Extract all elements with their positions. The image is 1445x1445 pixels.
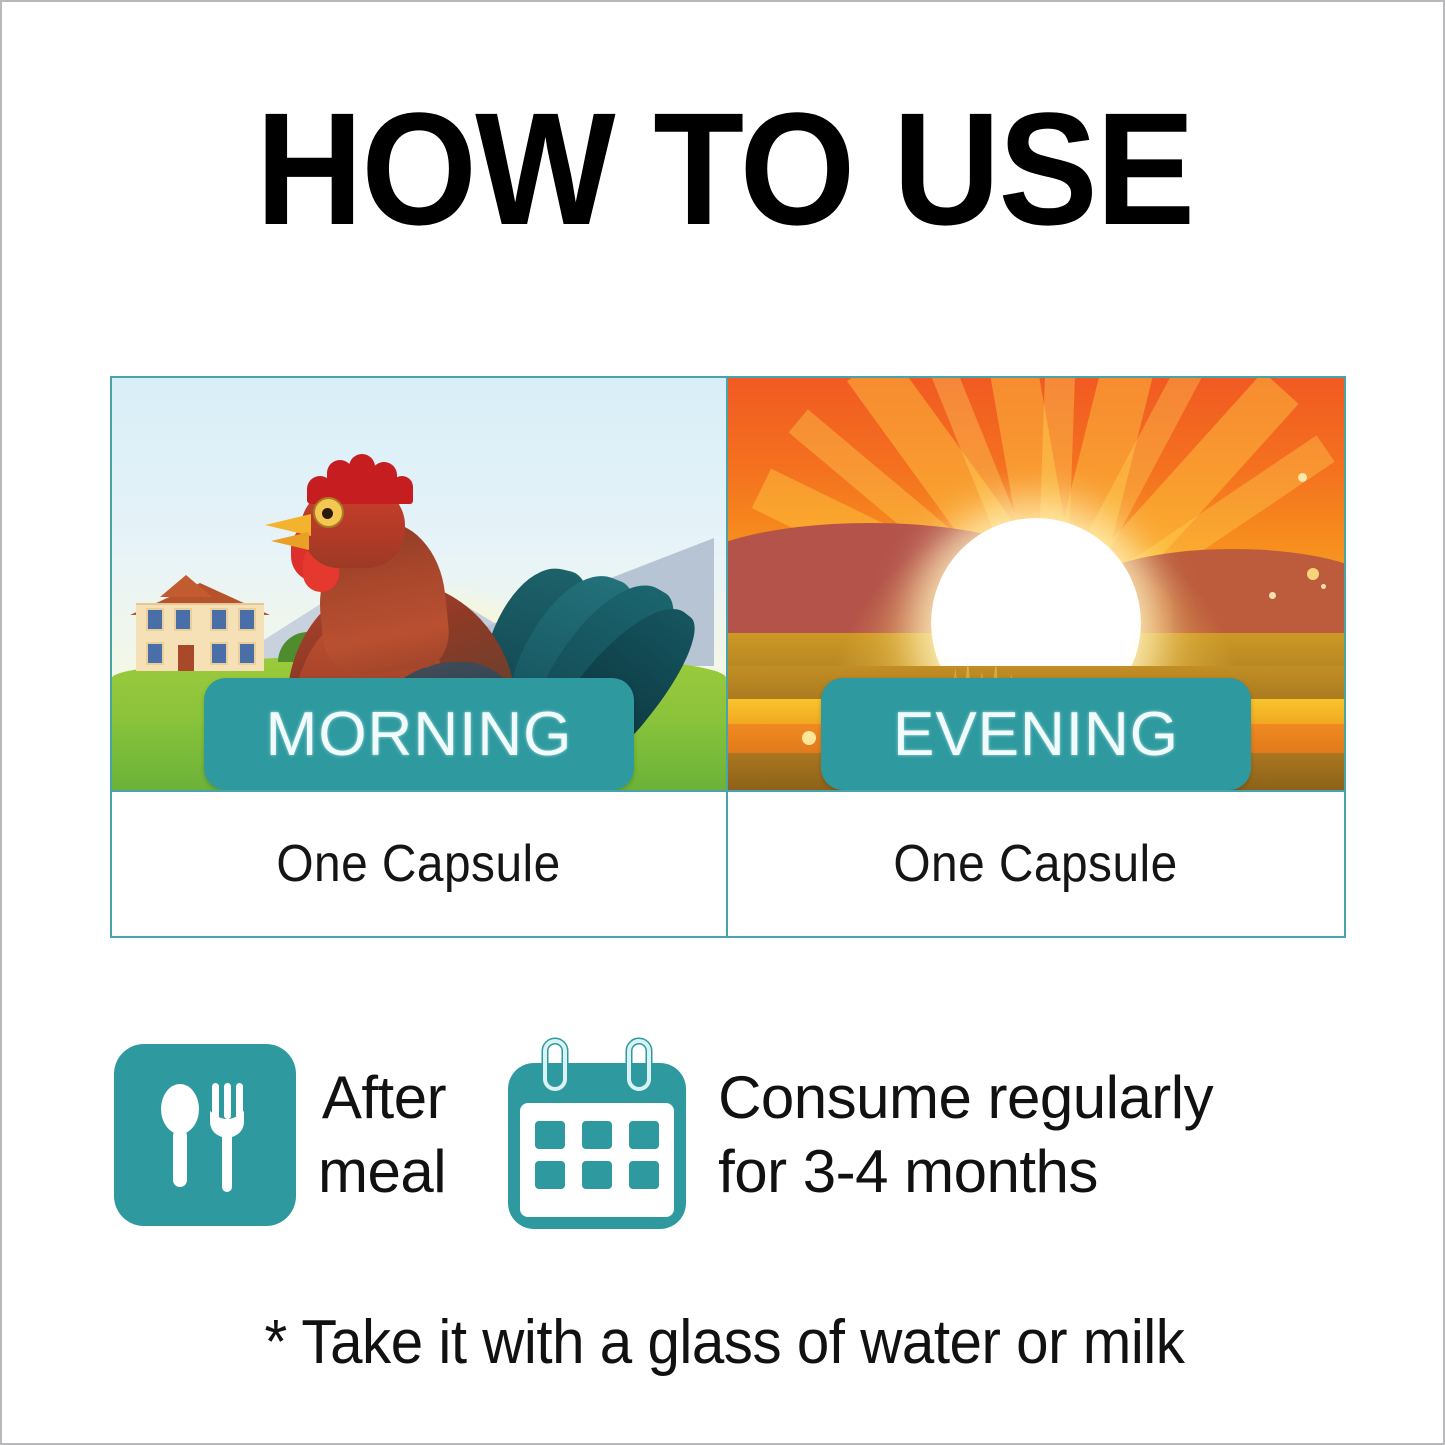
sparkle-dot	[1307, 568, 1319, 580]
roof-gable-shape	[160, 575, 212, 597]
feature-after-meal: After meal	[114, 1044, 446, 1226]
morning-badge: MORNING	[204, 678, 634, 790]
feature-after-meal-line2: meal	[318, 1135, 446, 1209]
window-shape	[146, 642, 164, 665]
rooster-beak-lower	[271, 532, 309, 550]
dosage-schedule-table: MORNING	[110, 376, 1346, 938]
feature-after-meal-text: After meal	[318, 1061, 446, 1209]
door-shape	[178, 645, 194, 671]
schedule-image-row: MORNING	[112, 378, 1344, 792]
morning-badge-label: MORNING	[266, 699, 573, 770]
sparkle-dot	[802, 731, 816, 745]
evening-image-cell: EVENING	[728, 378, 1344, 790]
window-shape	[210, 608, 228, 631]
evening-badge: EVENING	[821, 678, 1251, 790]
evening-badge-label: EVENING	[893, 699, 1179, 770]
morning-dose-cell: One Capsule	[112, 792, 728, 936]
morning-dose-label: One Capsule	[277, 834, 561, 894]
schedule-dose-row: One Capsule One Capsule	[112, 792, 1344, 936]
sparkle-dot	[1298, 473, 1307, 482]
evening-dose-cell: One Capsule	[728, 792, 1344, 936]
evening-dose-label: One Capsule	[894, 834, 1178, 894]
how-to-use-infographic: HOW TO USE	[0, 0, 1445, 1445]
footnote-text: * Take it with a glass of water or milk	[45, 1307, 1403, 1378]
spoon-fork-icon	[114, 1044, 296, 1226]
feature-duration-line2: for 3-4 months	[718, 1135, 1213, 1209]
window-shape	[174, 608, 192, 631]
feature-duration-line1: Consume regularly	[718, 1061, 1213, 1135]
feature-after-meal-line1: After	[318, 1061, 446, 1135]
window-shape	[210, 642, 228, 665]
calendar-icon	[502, 1037, 692, 1233]
rooster-pupil	[322, 508, 333, 519]
sparkle-dot	[1321, 584, 1326, 589]
feature-row: After meal	[110, 1032, 1355, 1237]
feature-duration: Consume regularly for 3-4 months	[502, 1037, 1213, 1233]
page-title: HOW TO USE	[53, 84, 1397, 254]
morning-image-cell: MORNING	[112, 378, 728, 790]
feature-duration-text: Consume regularly for 3-4 months	[718, 1061, 1213, 1209]
rooster-comb	[307, 452, 413, 504]
window-shape	[146, 608, 164, 631]
